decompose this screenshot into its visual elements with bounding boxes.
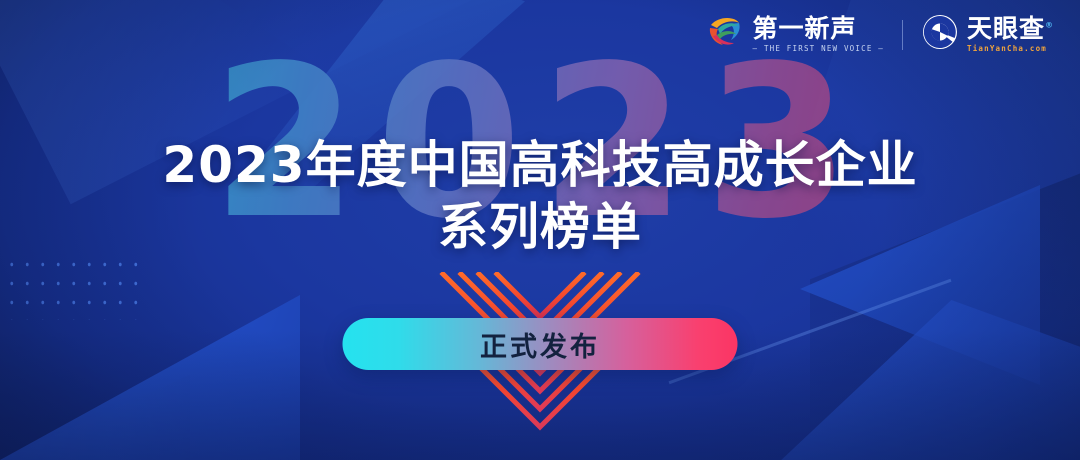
logo-diyixinsheng-name: 第一新声 — [753, 16, 884, 41]
logo-diyixinsheng-text: 第一新声 — THE FIRST NEW VOICE — — [753, 16, 884, 53]
header-logo-bar: 第一新声 — THE FIRST NEW VOICE — 天眼查® TianYa… — [705, 12, 1054, 57]
dot-grid-pattern — [0, 252, 148, 320]
logo-tianyancha-tagline: TianYanCha.com — [967, 45, 1054, 53]
background-diagonal-band-top-left-2 — [0, 0, 690, 140]
release-announcement-button[interactable]: 正式发布 — [343, 318, 738, 370]
logo-divider — [902, 20, 903, 50]
poster-canvas: 2023 — [0, 0, 1080, 460]
tianyancha-eye-aperture-logo-icon — [921, 13, 959, 56]
background-triangle-right-lower — [760, 300, 1080, 460]
logo-diyixinsheng[interactable]: 第一新声 — THE FIRST NEW VOICE — — [705, 12, 884, 57]
title-line-2: 系列榜单 — [0, 196, 1080, 258]
background-triangle-bottom-left — [0, 295, 300, 460]
diyixinsheng-swirl-logo-icon — [705, 12, 745, 57]
poster-title: 2023年度中国高科技高成长企业 系列榜单 — [0, 134, 1080, 258]
logo-tianyancha-name: 天眼查® — [967, 16, 1054, 41]
trademark-symbol: ® — [1045, 21, 1054, 30]
background-triangle-bottom-left-2 — [0, 365, 190, 460]
title-line-1: 2023年度中国高科技高成长企业 — [0, 134, 1080, 196]
logo-diyixinsheng-tagline: — THE FIRST NEW VOICE — — [753, 45, 884, 53]
release-announcement-button-label: 正式发布 — [480, 325, 600, 364]
logo-tianyancha[interactable]: 天眼查® TianYanCha.com — [921, 13, 1054, 56]
logo-tianyancha-text: 天眼查® TianYanCha.com — [967, 16, 1054, 53]
